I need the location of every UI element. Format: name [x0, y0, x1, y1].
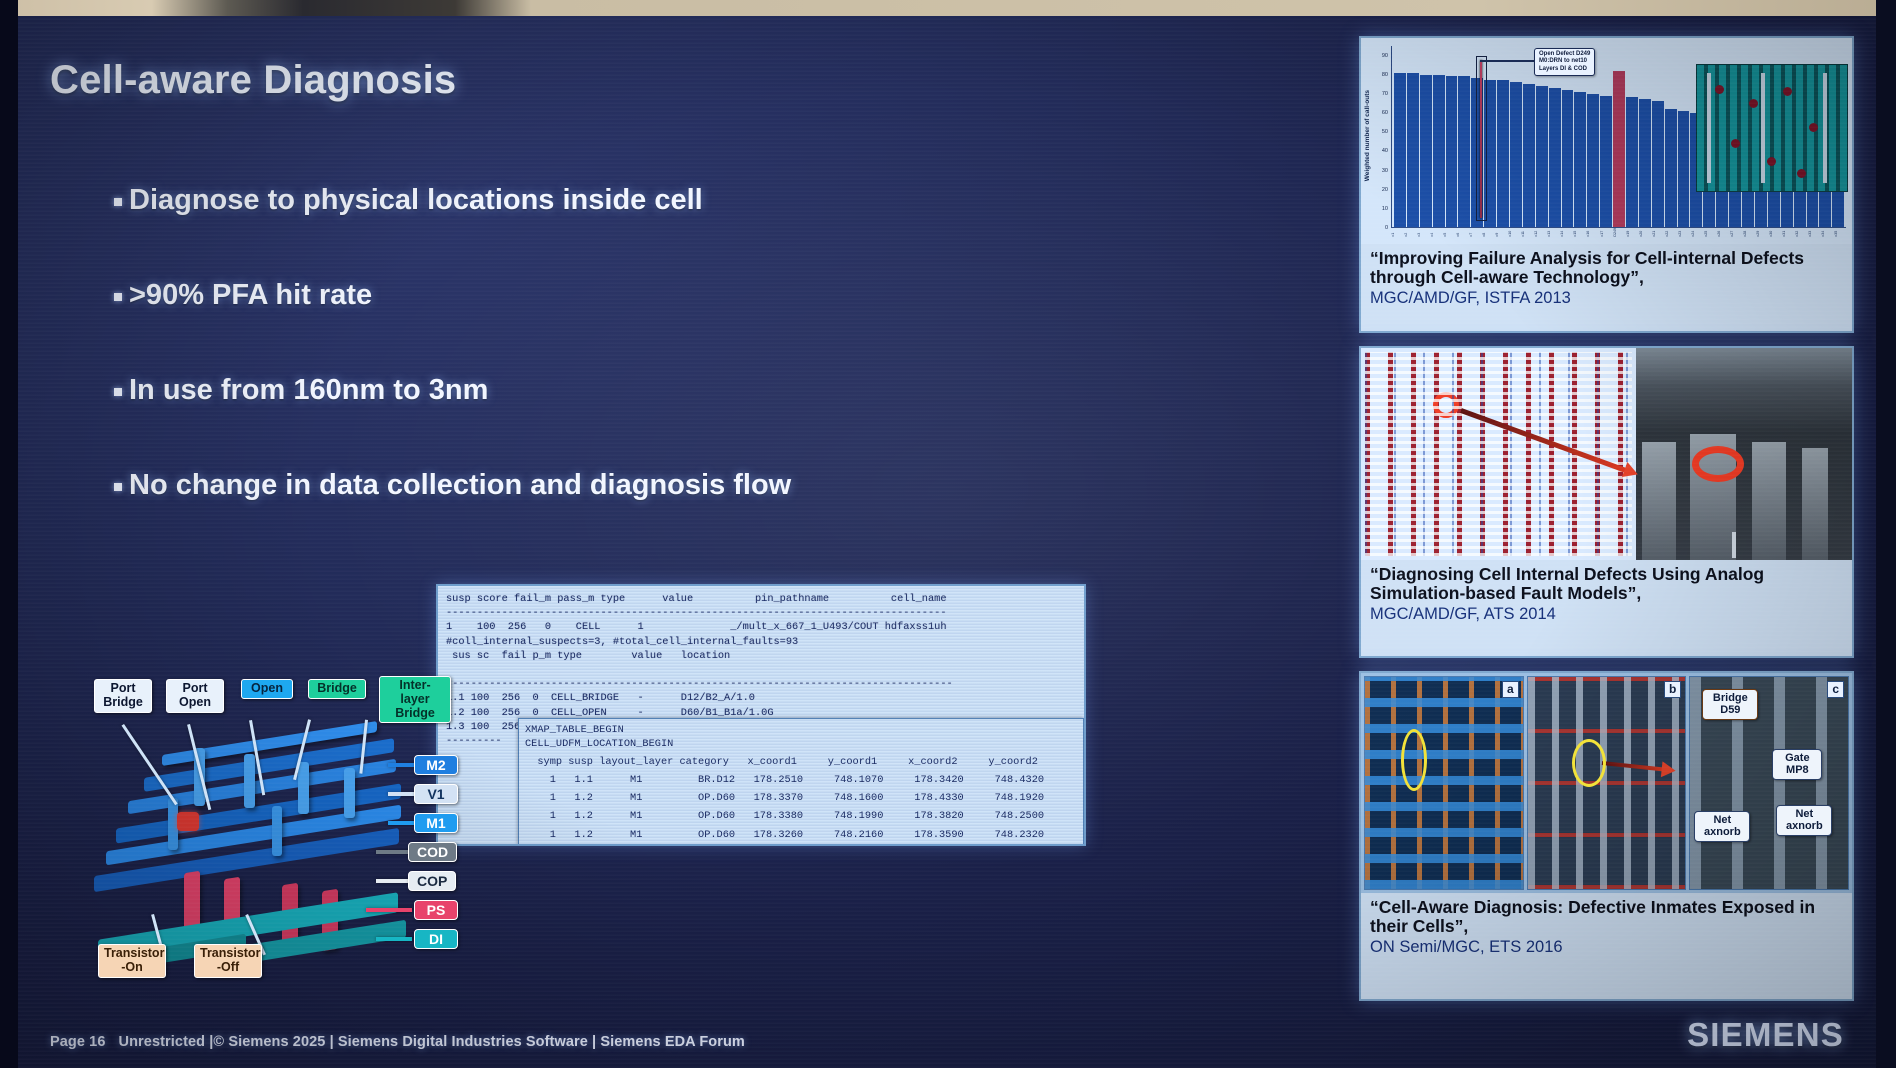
siemens-logo: SIEMENS: [1687, 1016, 1844, 1054]
callout-line-1: Open Defect D249: [1539, 51, 1590, 58]
chart-x-tick: c21: [1652, 228, 1664, 237]
chart-x-tick: c30: [1769, 228, 1781, 237]
chart-bar: [1549, 88, 1561, 227]
chart-x-tick: c8: [1482, 228, 1494, 237]
callout-line-3: Layers DI & COD: [1539, 66, 1590, 73]
transistor-off-label: Transistor -Off: [194, 944, 262, 978]
reference-3-figure: a b c Bridge D59 Gate MP8 Net axnorb Net…: [1361, 673, 1852, 893]
chart-x-tick: c14: [1560, 228, 1572, 237]
chart-bar: [1407, 73, 1419, 227]
chart-x-tick: c17: [1600, 228, 1612, 237]
transistor-on-label: Transistor -On: [98, 944, 166, 978]
screen-edge-right: [1876, 0, 1896, 1068]
chart-bar: [1446, 76, 1458, 227]
layer-connector: [376, 879, 410, 883]
xmap-header-text: XMAP_TABLE_BEGIN CELL_UDFM_LOCATION_BEGI…: [519, 719, 1083, 751]
via-post: [244, 754, 255, 808]
xmap-table-panel[interactable]: XMAP_TABLE_BEGIN CELL_UDFM_LOCATION_BEGI…: [518, 718, 1084, 846]
three-panel-figure: a b c Bridge D59 Gate MP8 Net axnorb Net…: [1361, 673, 1852, 893]
cell-stack-diagram: Port Bridge Port Open Open Bridge Inter-…: [76, 676, 496, 1036]
defect-label-open: Open: [241, 679, 293, 699]
panel-mark-c: c: [1827, 681, 1844, 698]
bullet-square-icon: [114, 293, 122, 301]
room-wall-strip: [0, 0, 1896, 16]
chart-x-tick: c31: [1782, 228, 1794, 237]
layer-connector: [376, 937, 412, 941]
chart-x-tick: c9: [1495, 228, 1507, 237]
chart-bar: [1394, 73, 1406, 227]
chart-y-tick: 70: [1382, 91, 1388, 97]
footer-legal: Unrestricted |© Siemens 2025 | Siemens D…: [119, 1034, 745, 1050]
reference-1-figure: Weighted number of call-outs 01020304050…: [1361, 38, 1852, 244]
defect-label-port-open: Port Open: [166, 679, 224, 713]
chart-highlight-bar: [1480, 60, 1482, 218]
callout-line-2: M0:DRN to net10: [1539, 58, 1590, 65]
sem-pillar: [1642, 442, 1676, 560]
layer-connector: [376, 850, 410, 854]
sem-image-view: [1636, 348, 1852, 560]
chart-x-tick: c16: [1586, 228, 1598, 237]
reference-3-title: “Cell-Aware Diagnosis: Defective Inmates…: [1370, 897, 1815, 936]
chart-x-tick: c3: [1417, 228, 1429, 237]
slide-footer: Page 16 Unrestricted |© Siemens 2025 | S…: [50, 1034, 745, 1050]
layer-connector: [366, 908, 412, 912]
defect-correlation-arrow: [1601, 761, 1665, 772]
chart-bar: [1458, 76, 1470, 227]
defect-ellipse: [1401, 729, 1427, 791]
chart-bar: [1600, 96, 1612, 227]
chart-y-tick: 50: [1382, 129, 1388, 135]
xmap-row: 1 1.2 M1 OP.D60 178.3380 748.1990 178.38…: [519, 805, 1083, 823]
chart-bar: [1574, 92, 1586, 227]
chart-x-tick: c19: [1626, 228, 1638, 237]
bullet-square-icon: [114, 483, 122, 491]
chart-x-tick: c23: [1678, 228, 1690, 237]
bullet-item: In use from 160nm to 3nm: [114, 374, 1054, 407]
figure-panel-b: b: [1527, 676, 1687, 890]
chart-y-tick: 80: [1382, 72, 1388, 78]
tag-gate-mp8: Gate MP8: [1772, 749, 1822, 780]
chart-y-tick: 10: [1382, 206, 1388, 212]
page-number: Page 16: [50, 1034, 106, 1050]
chart-bar: [1420, 75, 1432, 227]
layer-label-cod: COD: [408, 842, 457, 862]
chart-y-tick: 40: [1382, 148, 1388, 154]
chart-bar: [1433, 75, 1445, 227]
tag-bridge-d59: Bridge D59: [1702, 689, 1758, 720]
defect-label-port-bridge: Port Bridge: [94, 679, 152, 713]
chart-x-tick: D249: [1613, 228, 1625, 237]
chart-x-tick: c34: [1821, 228, 1833, 237]
chart-x-tick: c32: [1795, 228, 1807, 237]
chart-bar: [1678, 111, 1690, 227]
bullet-item: No change in data collection and diagnos…: [114, 469, 1054, 502]
chart-x-tick: c10: [1508, 228, 1520, 237]
reference-card-istfa-2013[interactable]: Weighted number of call-outs 01020304050…: [1359, 36, 1854, 333]
bullet-item: Diagnose to physical locations inside ce…: [114, 184, 1054, 217]
panel-mark-b: b: [1664, 681, 1681, 698]
reference-2-title: “Diagnosing Cell Internal Defects Using …: [1370, 564, 1764, 603]
chart-y-ticks: 0102030405060708090: [1374, 46, 1388, 228]
reference-1-title: “Improving Failure Analysis for Cell-int…: [1370, 248, 1804, 287]
chart-bar: [1626, 97, 1638, 227]
callout-bar-chart: Weighted number of call-outs 01020304050…: [1361, 38, 1852, 244]
defect-label-bridge: Bridge: [308, 679, 366, 699]
bullet-text: >90% PFA hit rate: [129, 279, 372, 312]
reference-1-source: MGC/AMD/GF, ISTFA 2013: [1370, 289, 1844, 307]
chart-x-tick: c29: [1756, 228, 1768, 237]
reference-2-figure: [1361, 348, 1852, 560]
chart-x-tick: c11: [1521, 228, 1533, 237]
chart-x-tick: c4: [1430, 228, 1442, 237]
tag-net-axnorb-right: Net axnorb: [1776, 805, 1832, 836]
chart-x-tick: c12: [1534, 228, 1546, 237]
reference-2-source: MGC/AMD/GF, ATS 2014: [1370, 605, 1844, 623]
chart-y-tick: 20: [1382, 187, 1388, 193]
panel-mark-a: a: [1502, 681, 1519, 698]
page-title: Cell-aware Diagnosis: [50, 58, 456, 103]
projected-slide-photo: Cell-aware Diagnosis Diagnose to physica…: [0, 0, 1896, 1068]
reference-3-source: ON Semi/MGC, ETS 2016: [1370, 938, 1844, 956]
defect-label-inter-layer-bridge: Inter-layer Bridge: [379, 676, 451, 723]
figure-panel-a: a: [1364, 676, 1524, 890]
chart-bar: [1652, 101, 1664, 227]
via-post: [272, 806, 282, 856]
bullet-square-icon: [114, 198, 122, 206]
chart-x-tick: c33: [1808, 228, 1820, 237]
layer-label-cop: COP: [408, 871, 456, 891]
bullet-text: Diagnose to physical locations inside ce…: [129, 184, 703, 217]
chart-bar: [1562, 90, 1574, 227]
chart-x-tick: c26: [1717, 228, 1729, 237]
chart-x-tick: c1: [1391, 228, 1403, 237]
defect-ellipse: [1572, 739, 1606, 787]
slide-canvas: Cell-aware Diagnosis Diagnose to physica…: [18, 16, 1876, 1068]
chart-x-tick: c25: [1704, 228, 1716, 237]
chart-y-axis-label: Weighted number of call-outs: [1364, 90, 1371, 181]
cell-layout-thumbnail: [1696, 64, 1848, 192]
chart-bar: [1536, 86, 1548, 227]
sem-scale-needle: [1732, 532, 1736, 558]
chart-bar: [1587, 94, 1599, 227]
reference-2-caption: “Diagnosing Cell Internal Defects Using …: [1361, 560, 1852, 627]
xmap-columns-text: symp susp layout_layer category x_coord1…: [519, 751, 1083, 769]
layout-view: [1361, 348, 1636, 560]
layer-connector: [388, 821, 416, 825]
layer-label-m1: M1: [414, 813, 458, 833]
bullet-item: >90% PFA hit rate: [114, 279, 1054, 312]
bullet-text: In use from 160nm to 3nm: [129, 374, 488, 407]
reference-1-caption: “Improving Failure Analysis for Cell-int…: [1361, 244, 1852, 311]
screen-edge-left: [0, 0, 18, 1068]
layer-label-ps: PS: [414, 900, 458, 920]
chart-bar: [1639, 99, 1651, 227]
callout-leader-line: [1480, 60, 1536, 62]
chart-y-tick: 30: [1382, 168, 1388, 174]
chart-bar: [1523, 84, 1535, 227]
chart-bar: [1665, 109, 1677, 227]
reference-card-ats-2014[interactable]: “Diagnosing Cell Internal Defects Using …: [1359, 346, 1854, 658]
chart-x-tick: c5: [1443, 228, 1455, 237]
reference-card-ets-2016[interactable]: a b c Bridge D59 Gate MP8 Net axnorb Net…: [1359, 671, 1854, 1001]
bullet-text: No change in data collection and diagnos…: [129, 469, 791, 502]
chart-x-tick: c28: [1743, 228, 1755, 237]
chart-y-tick: 90: [1382, 53, 1388, 59]
chart-y-tick: 0: [1385, 225, 1388, 231]
layer-label-m2: M2: [414, 755, 458, 775]
diagnosis-report-panel[interactable]: susp score fail_m pass_m type value pin_…: [436, 584, 1086, 846]
chart-y-tick: 60: [1382, 110, 1388, 116]
chart-bar: [1497, 80, 1509, 227]
xmap-row: 1 1.2 M1 OP.D60 178.3260 748.2160 178.35…: [519, 824, 1083, 842]
bullet-list: Diagnose to physical locations inside ce…: [114, 184, 1054, 564]
xmap-row: 1 1.3 TOFF.D80 178.3650 748.3600 178.504…: [519, 842, 1083, 846]
chart-x-tick: c6: [1456, 228, 1468, 237]
chart-x-tick: c7: [1469, 228, 1481, 237]
sem-pillar: [1752, 442, 1786, 560]
chart-x-tick: c22: [1665, 228, 1677, 237]
reference-3-caption: “Cell-Aware Diagnosis: Defective Inmates…: [1361, 893, 1852, 960]
via-post: [298, 762, 309, 814]
via-post: [344, 768, 355, 818]
layer-label-di: DI: [414, 929, 458, 949]
chart-x-tick: c15: [1573, 228, 1585, 237]
tag-net-axnorb-left: Net axnorb: [1694, 811, 1750, 842]
chart-x-tick: c35: [1834, 228, 1846, 237]
sem-pillar: [1802, 448, 1828, 560]
chart-x-tick: c27: [1730, 228, 1742, 237]
chart-bar: [1613, 71, 1625, 227]
chart-x-tick: c2: [1404, 228, 1416, 237]
chart-x-tick: c13: [1547, 228, 1559, 237]
defect-highlight-ring: [1692, 446, 1744, 482]
xmap-row: 1 1.1 M1 BR.D12 178.2510 748.1070 178.34…: [519, 769, 1083, 787]
xmap-row: 1 1.2 M1 OP.D60 178.3370 748.1600 178.43…: [519, 787, 1083, 805]
layer-connector: [388, 792, 416, 796]
chart-callout-box: Open Defect D249 M0:DRN to net10 Layers …: [1534, 48, 1595, 76]
bullet-square-icon: [114, 388, 122, 396]
chart-x-tick: c20: [1639, 228, 1651, 237]
defect-highlight-ring: [1433, 392, 1459, 418]
chart-x-tick: c24: [1691, 228, 1703, 237]
chart-x-ticks: c1c2c3c4c5c6c7c8c9c10c11c12c13c14c15c16c…: [1391, 228, 1846, 237]
defect-marker-red: [177, 812, 199, 831]
layer-label-v1: V1: [414, 784, 458, 804]
chart-bar: [1510, 82, 1522, 227]
layer-connector: [388, 763, 416, 767]
figure-panel-c: c Bridge D59 Gate MP8 Net axnorb Net axn…: [1689, 676, 1849, 890]
